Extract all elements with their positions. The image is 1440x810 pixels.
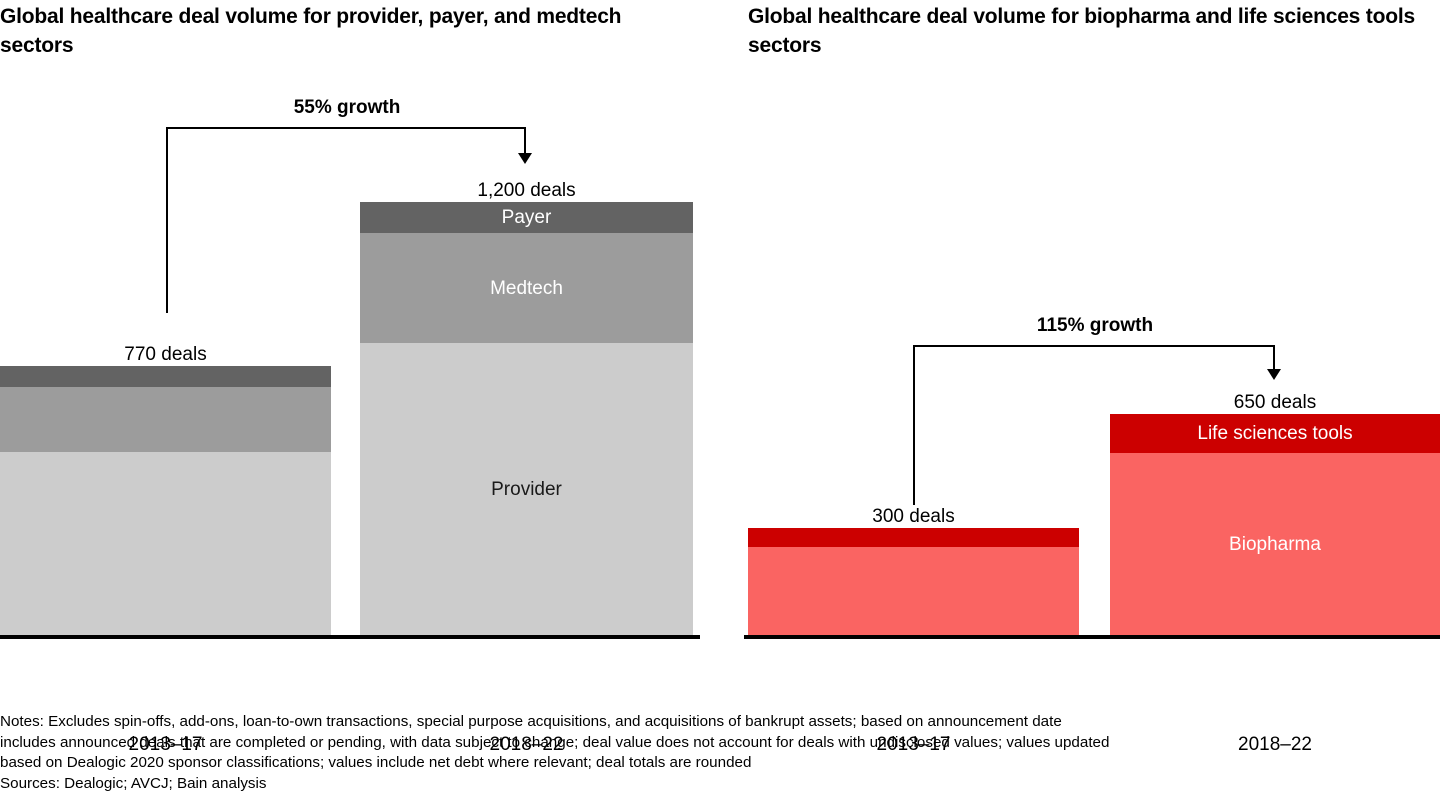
bracket-arrowhead: [1267, 369, 1281, 380]
footnote-line-4: Sources: Dealogic; AVCJ; Bain analysis: [0, 774, 1440, 795]
footnote-line-3: based on Dealogic 2020 sponsor classific…: [0, 753, 1440, 774]
bar-segment-provider[interactable]: Provider: [360, 343, 693, 635]
bar-right-2018-22[interactable]: Life sciences tools Biopharma: [1110, 414, 1440, 635]
bar-total-label-left-1: 770 deals: [0, 344, 331, 366]
bar-right-2013-17[interactable]: Life sciences tools Biopharma: [748, 528, 1079, 635]
x-axis-line-left: [0, 635, 700, 639]
bar-total-label-right-2: 650 deals: [1110, 392, 1440, 414]
bracket-top-rail: [166, 127, 526, 129]
chart-panel-right: 115% growth 300 deals 650 deals Life sci…: [744, 90, 1440, 680]
chart-panel-left: 55% growth 770 deals 1,200 deals Payer M…: [0, 90, 700, 680]
chart-title-right: Global healthcare deal volume for biopha…: [748, 2, 1440, 60]
footnotes: Notes: Excludes spin-offs, add-ons, loan…: [0, 712, 1440, 794]
bar-segment-payer[interactable]: Payer: [360, 202, 693, 233]
bracket-right-leg: [524, 127, 526, 154]
bracket-left-leg: [913, 345, 915, 505]
plot-area-left: 55% growth 770 deals 1,200 deals Payer M…: [0, 90, 700, 635]
bar-total-label-right-1: 300 deals: [748, 506, 1079, 528]
bracket-top-rail: [913, 345, 1275, 347]
bracket-arrowhead: [518, 153, 532, 164]
bar-segment-medtech[interactable]: Medtech: [0, 387, 331, 452]
bracket-left-leg: [166, 127, 168, 313]
bar-total-label-left-2: 1,200 deals: [360, 180, 693, 202]
bar-segment-biopharma[interactable]: Biopharma: [1110, 453, 1440, 635]
chart-title-left: Global healthcare deal volume for provid…: [0, 2, 690, 60]
bracket-right-leg: [1273, 345, 1275, 370]
growth-annotation-right-label: 115% growth: [913, 315, 1277, 337]
bar-left-2013-17[interactable]: Payer Medtech Provider: [0, 366, 331, 635]
bar-segment-provider[interactable]: Provider: [0, 452, 331, 635]
plot-area-right: 115% growth 300 deals 650 deals Life sci…: [744, 90, 1440, 635]
footnote-line-2: includes announced deals that are comple…: [0, 733, 1440, 754]
bar-segment-payer[interactable]: Payer: [0, 366, 331, 387]
growth-annotation-left-label: 55% growth: [166, 97, 528, 119]
bar-segment-medtech[interactable]: Medtech: [360, 233, 693, 343]
bar-segment-biopharma[interactable]: Biopharma: [748, 547, 1079, 635]
footnote-line-1: Notes: Excludes spin-offs, add-ons, loan…: [0, 712, 1440, 733]
bar-left-2018-22[interactable]: Payer Medtech Provider: [360, 202, 693, 635]
bar-segment-life-sciences-tools[interactable]: Life sciences tools: [748, 528, 1079, 547]
x-axis-line-right: [744, 635, 1440, 639]
bar-segment-life-sciences-tools[interactable]: Life sciences tools: [1110, 414, 1440, 453]
